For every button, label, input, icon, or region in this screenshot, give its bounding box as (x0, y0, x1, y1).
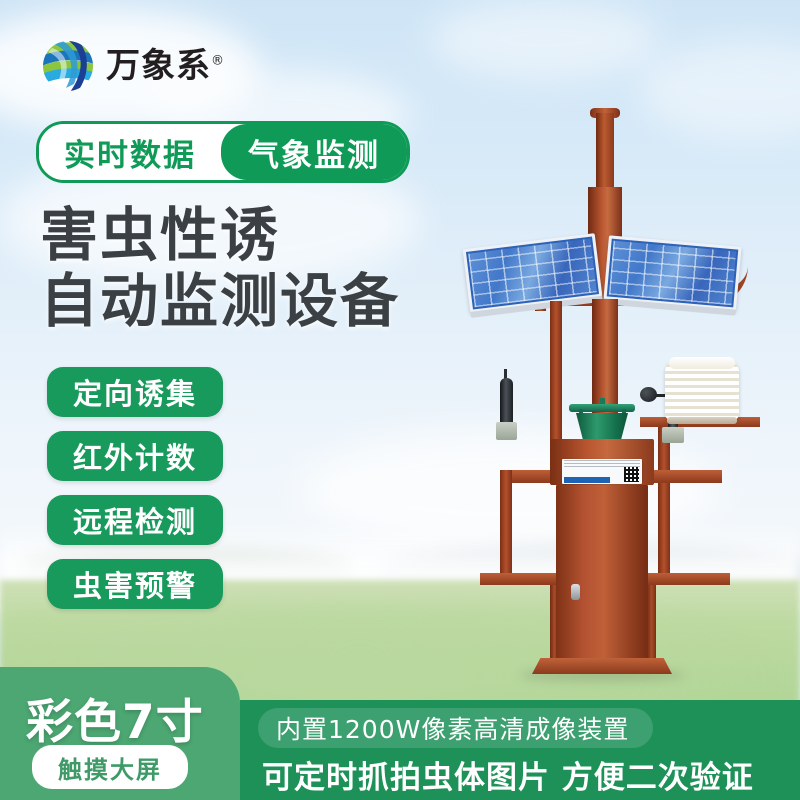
top-tagline-pill: 实时数据 气象监测 (36, 121, 410, 183)
touchscreen-badge: 触摸大屏 (32, 745, 188, 789)
anemometer-base (662, 427, 684, 443)
feature-list: 定向诱集 红外计数 远程检测 虫害预警 (47, 367, 223, 609)
feature-badge-infrared-counting: 红外计数 (47, 431, 223, 481)
radiation-shield-top (669, 357, 735, 369)
product-image (440, 95, 780, 675)
radiation-shield-louvers (665, 360, 739, 420)
feature-badge-directional-trapping: 定向诱集 (47, 367, 223, 417)
vertical-strut-outer-left (500, 470, 512, 578)
label-text-lines (564, 460, 640, 467)
product-poster: 万象系® 实时数据 气象监测 害虫性诱 自动监测设备 定向诱集 红外计数 远程检… (0, 0, 800, 800)
chimney-pipe (596, 113, 614, 189)
headline-line-1: 害虫性诱 (40, 203, 400, 269)
page-title: 害虫性诱 自动监测设备 (40, 203, 400, 334)
brand-logo: 万象系® (40, 38, 225, 94)
registered-mark: ® (211, 54, 225, 69)
brand-name-text: 万象系 (106, 46, 211, 86)
qr-code-icon (624, 467, 639, 482)
feature-badge-remote-detection: 远程检测 (47, 495, 223, 545)
base-plate (532, 658, 672, 674)
product-label (562, 459, 642, 484)
solar-panel-right (603, 235, 741, 310)
bottom-left-panel: 彩色7寸 触摸大屏 (0, 667, 240, 800)
screen-size-title: 彩色7寸 (26, 683, 204, 752)
tag-realtime-data: 实时数据 (39, 124, 221, 180)
radiation-shield-bottom (667, 417, 737, 424)
globe-sphere-logo-icon (40, 38, 96, 94)
cabinet-lock-icon (571, 584, 580, 600)
vane-body (500, 378, 513, 424)
brand-name: 万象系® (106, 49, 225, 83)
tag-weather-monitoring: 气象监测 (221, 124, 407, 180)
label-blue-band (564, 477, 610, 483)
control-cabinet (556, 485, 648, 665)
solar-cell-grid (609, 241, 736, 306)
bottom-right-banner: 内置1200W像素高清成像装置 可定时抓拍虫体图片 方便二次验证 (240, 700, 800, 800)
cloud-icon (430, 0, 660, 80)
vertical-strut-right (658, 425, 670, 585)
vane-base (496, 422, 517, 440)
radiation-shield-icon (665, 360, 739, 420)
feature-badge-pest-alert: 虫害预警 (47, 559, 223, 609)
anemometer-cup (640, 387, 657, 402)
wind-direction-vane-icon (496, 378, 516, 440)
bottom-banner-line-1: 内置1200W像素高清成像装置 (258, 708, 653, 748)
solar-cell-grid (468, 239, 597, 308)
solar-panel-left (463, 233, 603, 313)
frame-leg-right (647, 585, 656, 660)
headline-line-2: 自动监测设备 (40, 269, 400, 335)
bottom-banner-line-2: 可定时抓拍虫体图片 方便二次验证 (262, 752, 754, 797)
